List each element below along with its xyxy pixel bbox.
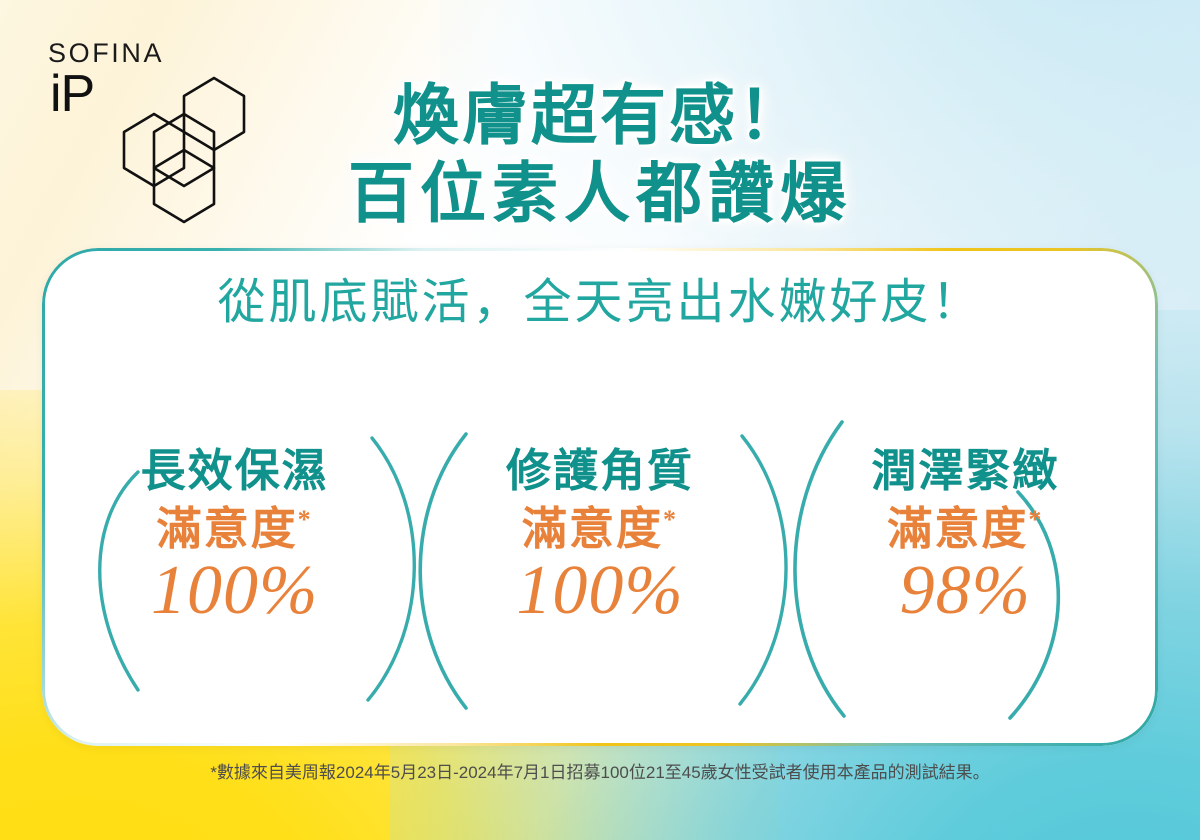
stat-label: 潤澤緊緻	[783, 446, 1148, 498]
stat-sublabel-text: 滿意度	[522, 504, 663, 554]
stat-footnote-marker: *	[1028, 505, 1043, 534]
hexagon-molecule-icon	[116, 74, 262, 226]
stats-row: 長效保濕 滿意度* 100% 修護角質 滿意度* 100% 潤澤緊緻 滿意度* …	[52, 424, 1148, 714]
stat-sublabel-text: 滿意度	[157, 504, 298, 554]
brand-sub: iP	[50, 68, 94, 120]
stat-sublabel-text: 滿意度	[887, 504, 1028, 554]
stat-value: 100%	[52, 554, 417, 628]
subtitle: 從肌底賦活，全天亮出水嫩好皮！	[0, 262, 1200, 332]
brand-logo: SOFINA iP	[42, 30, 262, 230]
stat-label: 修護角質	[417, 446, 782, 498]
stat-block-moisture: 長效保濕 滿意度* 100%	[52, 424, 417, 714]
stat-footnote-marker: *	[663, 505, 678, 534]
stat-sublabel: 滿意度*	[417, 502, 782, 556]
poster-root: SOFINA iP 煥膚超有感！ 百位素人都讚爆 從肌底賦活，全天亮出水嫩好皮！	[0, 0, 1200, 840]
stat-block-firmness: 潤澤緊緻 滿意度* 98%	[783, 424, 1148, 714]
stat-value: 100%	[417, 554, 782, 628]
stat-sublabel: 滿意度*	[52, 502, 417, 556]
stat-sublabel: 滿意度*	[783, 502, 1148, 556]
stat-footnote-marker: *	[298, 505, 313, 534]
stat-value: 98%	[783, 554, 1148, 628]
stat-label: 長效保濕	[52, 446, 417, 498]
footnote: *數據來自美周報2024年5月23日-2024年7月1日招募100位21至45歲…	[0, 758, 1200, 783]
stat-block-repair: 修護角質 滿意度* 100%	[417, 424, 782, 714]
